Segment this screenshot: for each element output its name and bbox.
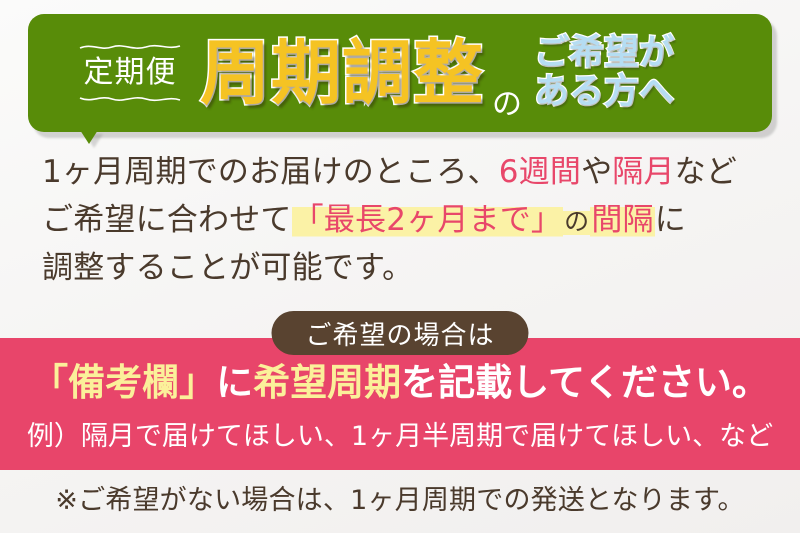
footer-note: ※ご希望がない場合は、1ヶ月周期での発送となります。 xyxy=(0,482,800,520)
request-case-pill: ご希望の場合は xyxy=(271,311,528,355)
pink-example-text: 例）隔月で届けてほしい、1ヶ月半周期で届けてほしい、など xyxy=(0,418,800,456)
body-paragraph: 1ヶ月周期でのお届けのところ、6週間や隔月など ご希望に合わせて「最長2ヶ月まで… xyxy=(42,148,772,292)
target-audience-line-1: ご希望が xyxy=(534,34,674,73)
pink-headline-desired-cycle: 希望周期 xyxy=(253,361,401,404)
body-emphasis-six-weeks: 6週間 xyxy=(499,154,581,190)
header-bubble: 定期便 周期調整 の ご希望が ある方へ xyxy=(28,14,772,132)
body-highlight-interval: 間隔 xyxy=(590,202,654,238)
subscription-badge: 定期便 xyxy=(80,43,180,103)
pink-headline: 「備考欄」に希望周期を記載してください。 xyxy=(0,360,800,406)
wavy-rule-top-icon xyxy=(80,43,180,51)
page-title: 周期調整 xyxy=(200,38,484,108)
body-line-1-tail: など xyxy=(675,154,737,190)
body-highlight-max-two-months: 「最長2ヶ月まで」 xyxy=(292,202,564,238)
bubble-tail-icon xyxy=(80,130,98,144)
target-audience-block: ご希望が ある方へ xyxy=(534,34,674,112)
body-line-1: 1ヶ月周期でのお届けのところ、6週間や隔月など xyxy=(42,148,772,196)
body-line-2-lead: ご希望に合わせて xyxy=(42,202,292,238)
body-emphasis-every-other-month: 隔月 xyxy=(612,154,674,190)
subscription-badge-label: 定期便 xyxy=(84,51,177,95)
body-line-3: 調整することが可能です。 xyxy=(42,244,772,292)
title-particle: の xyxy=(492,90,522,132)
wavy-rule-bottom-icon xyxy=(80,95,180,103)
body-line-2: ご希望に合わせて「最長2ヶ月まで」の間隔に xyxy=(42,196,772,244)
pink-headline-tail: を記載してください。 xyxy=(401,361,769,404)
body-line-1-lead: 1ヶ月周期でのお届けのところ、 xyxy=(42,154,499,190)
target-audience-line-2: ある方へ xyxy=(534,73,674,112)
pink-headline-particle: に xyxy=(216,361,253,404)
body-highlight-particle: の xyxy=(563,207,590,236)
body-line-2-tail: に xyxy=(655,202,686,238)
pink-headline-remarks-field: 「備考欄」 xyxy=(31,361,216,404)
header-bubble-wrapper: 定期便 周期調整 の ご希望が ある方へ xyxy=(28,14,772,132)
body-line-1-conj: や xyxy=(581,154,612,190)
promo-banner: 定期便 周期調整 の ご希望が ある方へ 1ヶ月周期でのお届けのところ、6週間や… xyxy=(0,0,800,533)
